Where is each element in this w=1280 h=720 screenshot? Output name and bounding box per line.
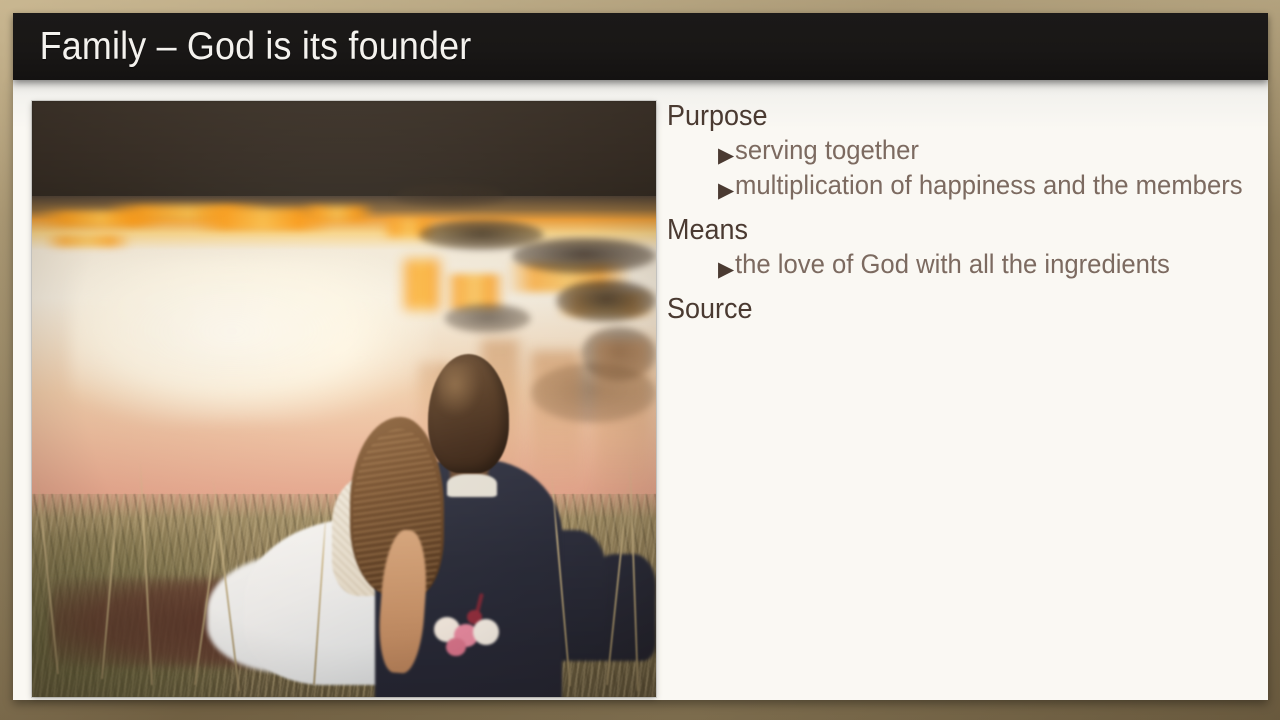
triangle-bullet-icon: ▶ — [718, 180, 734, 201]
photo-treeline — [32, 101, 656, 202]
bullet-item: ▶ serving together — [667, 136, 1257, 166]
photo-bouquet-flower — [473, 619, 498, 645]
photo-sun-reflection — [69, 256, 431, 423]
bullet-item: ▶ multiplication of happiness and the me… — [667, 171, 1257, 201]
photo-groom-hair-highlight — [438, 363, 482, 417]
photo-reed-cluster — [556, 280, 656, 322]
wedding-couple-photo — [32, 101, 656, 697]
photo-flare — [44, 235, 131, 247]
photo-bouquet-flower — [446, 638, 465, 656]
photo-water-smear — [531, 351, 581, 494]
bullet-text: serving together — [735, 136, 919, 165]
slide-content-panel: Purpose ▶ serving together ▶ multiplicat… — [13, 80, 1268, 700]
slide-root: Family – God is its founder — [0, 0, 1280, 720]
photo-flare — [400, 259, 444, 310]
bullet-text: the love of God with all the ingredients — [735, 250, 1170, 279]
section-heading-purpose: Purpose — [667, 101, 1216, 131]
photo-canvas — [32, 101, 656, 697]
triangle-bullet-icon: ▶ — [718, 259, 734, 280]
bullet-text: multiplication of happiness and the memb… — [735, 171, 1243, 200]
slide-title-bar: Family – God is its founder — [13, 13, 1268, 80]
slide-text-column: Purpose ▶ serving together ▶ multiplicat… — [667, 101, 1257, 697]
photo-water-smear — [594, 339, 650, 506]
photo-bouquet — [431, 608, 506, 662]
photo-reed-cluster — [512, 238, 656, 274]
slide-title: Family – God is its founder — [13, 25, 471, 69]
photo-groom-collar — [447, 474, 497, 498]
photo-flare — [300, 206, 375, 221]
section-heading-source: Source — [667, 294, 1216, 324]
triangle-bullet-icon: ▶ — [718, 145, 734, 166]
bullet-item: ▶ the love of God with all the ingredien… — [667, 250, 1257, 280]
section-heading-means: Means — [667, 215, 1216, 245]
